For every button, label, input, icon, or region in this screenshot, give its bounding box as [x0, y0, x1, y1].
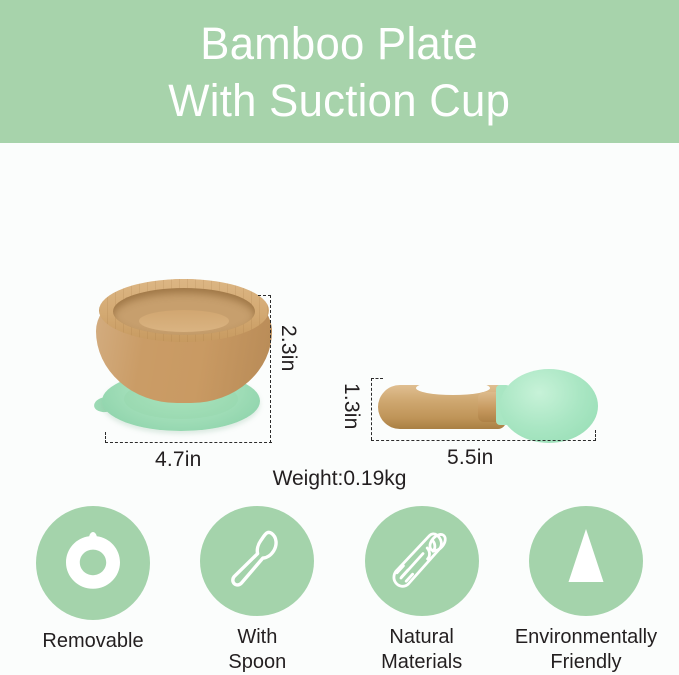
page-title-line-1: Bamboo Plate: [201, 15, 479, 72]
feature-badges-row: Removable With Spoon: [0, 500, 679, 675]
bamboo-log-icon: [382, 521, 462, 601]
suction-cup-icon: [53, 523, 133, 603]
bowl-height-label: 2.3in: [276, 325, 300, 372]
feature-circle-removable: [36, 506, 150, 620]
feature-removable[interactable]: Removable: [29, 500, 157, 675]
spoon-width-guide-tick-right: [595, 430, 596, 441]
spoon-icon: [217, 521, 297, 601]
tree-icon: [546, 521, 626, 601]
feature-circle-with-spoon: [200, 506, 314, 616]
bowl-interior: [113, 288, 255, 335]
bowl-width-guide-line: [105, 442, 272, 443]
feature-natural-materials[interactable]: Natural Materials: [358, 500, 486, 675]
page-title-line-2: With Suction Cup: [169, 72, 511, 129]
bowl-height-guide-tick-top: [258, 295, 271, 296]
bowl-height-guide-line: [270, 295, 271, 443]
feature-with-spoon[interactable]: With Spoon: [193, 500, 321, 675]
bamboo-bowl-image: [96, 279, 272, 449]
spoon-height-label: 1.3in: [339, 383, 363, 430]
bowl-width-guide-tick-left: [105, 432, 106, 443]
feature-circle-environmentally-friendly: [529, 506, 643, 616]
spoon-head: [500, 369, 598, 443]
feature-label-with-spoon: With Spoon: [228, 625, 286, 675]
feature-label-natural-materials: Natural Materials: [381, 625, 462, 675]
product-weight-label: Weight:0.19kg: [0, 467, 679, 491]
feature-circle-natural-materials: [365, 506, 479, 616]
bowl-interior-floor: [139, 310, 229, 332]
header-banner: Bamboo Plate With Suction Cup: [0, 0, 679, 143]
bamboo-spoon-image: [378, 365, 598, 443]
spoon-height-guide-line: [371, 378, 372, 440]
spoon-width-guide-line: [371, 440, 596, 441]
feature-environmentally-friendly[interactable]: Environmentally Friendly: [522, 500, 650, 675]
product-infographic: Bamboo Plate With Suction Cup 2.3in 4.7i…: [0, 0, 679, 675]
spoon-height-guide-tick-top: [371, 378, 383, 379]
product-showcase: 2.3in 4.7in 1.3in 5.5in Weight:0.19kg: [0, 143, 679, 500]
feature-label-environmentally-friendly: Environmentally Friendly: [515, 625, 657, 675]
feature-label-removable: Removable: [42, 629, 143, 654]
